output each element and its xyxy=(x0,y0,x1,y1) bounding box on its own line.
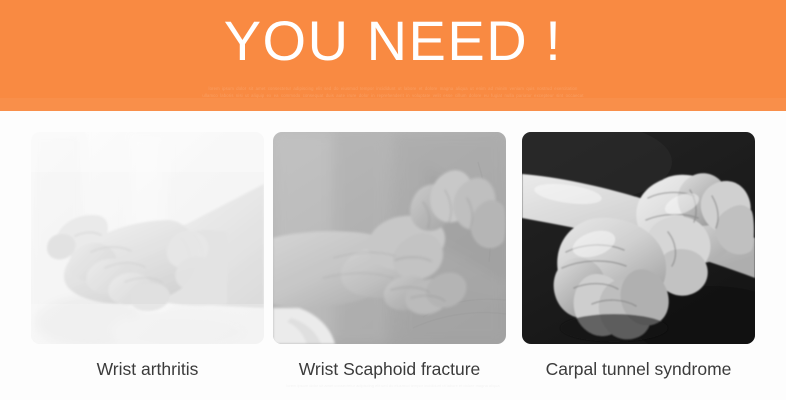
photo-carpal-tunnel-syndrome xyxy=(522,132,755,344)
body-fineprint-watermark: lorem ipsum dolor sit amet consectetur a… xyxy=(0,383,786,389)
photo-wrist-arthritis xyxy=(31,132,264,344)
condition-card-wrist-scaphoid-fracture[interactable]: Wrist Scaphoid fracture xyxy=(273,132,506,344)
photo-wrist-scaphoid-fracture xyxy=(273,132,506,344)
promo-banner-page: YOU NEED ! lorem ipsum dolor sit amet co… xyxy=(0,0,786,400)
page-title: YOU NEED ! xyxy=(0,11,786,71)
card-caption: Wrist Scaphoid fracture xyxy=(261,358,518,380)
card-caption: Wrist arthritis xyxy=(19,358,276,380)
condition-card-carpal-tunnel-syndrome[interactable]: Carpal tunnel syndrome xyxy=(522,132,755,344)
banner-fineprint-watermark: lorem ipsum dolor sit amet consectetur a… xyxy=(0,86,786,99)
card-caption: Carpal tunnel syndrome xyxy=(510,358,767,380)
banner-bottom-sheen xyxy=(0,98,786,111)
orange-banner: YOU NEED ! lorem ipsum dolor sit amet co… xyxy=(0,0,786,111)
condition-card-wrist-arthritis[interactable]: Wrist arthritis xyxy=(31,132,264,344)
